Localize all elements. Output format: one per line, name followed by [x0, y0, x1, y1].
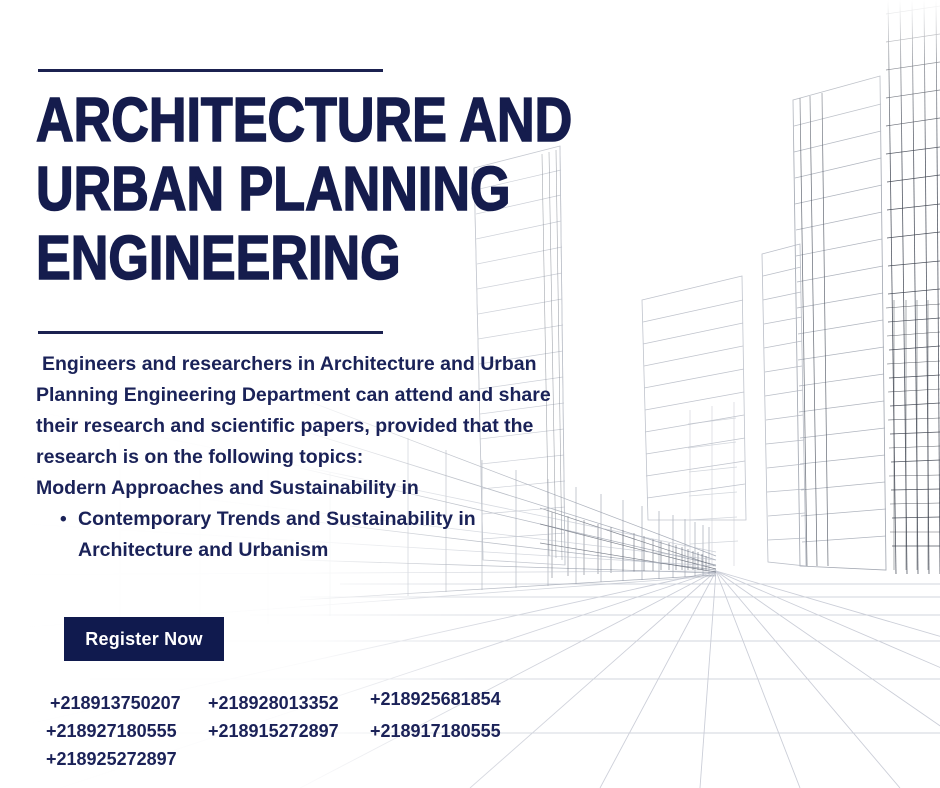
title-line-3: ENGINEERING [36, 224, 431, 293]
phone-number[interactable]: +218925681854 [370, 689, 501, 710]
list-item: Contemporary Trends and Sustainability i… [36, 504, 566, 566]
intro-paragraph: Engineers and researchers in Architectur… [36, 349, 566, 473]
poster-canvas: ARCHITECTURE AND URBAN PLANNING ENGINEER… [0, 0, 940, 788]
register-now-button[interactable]: Register Now [64, 617, 224, 661]
phone-number[interactable]: +218915272897 [208, 721, 339, 742]
title-line-2: URBAN PLANNING [36, 155, 431, 224]
page-title: ARCHITECTURE AND URBAN PLANNING ENGINEER… [36, 86, 506, 293]
body-copy: Engineers and researchers in Architectur… [36, 349, 566, 566]
divider-middle [38, 331, 383, 334]
topics-subheading: Modern Approaches and Sustainability in [36, 473, 566, 504]
phone-number[interactable]: +218925272897 [46, 749, 177, 770]
phone-number[interactable]: +218917180555 [370, 721, 501, 742]
phone-number[interactable]: +218913750207 [50, 693, 181, 714]
title-line-1: ARCHITECTURE AND [36, 86, 431, 155]
divider-top [38, 69, 383, 72]
phone-number[interactable]: +218927180555 [46, 721, 177, 742]
phone-number[interactable]: +218928013352 [208, 693, 339, 714]
topics-list: Contemporary Trends and Sustainability i… [36, 504, 566, 566]
